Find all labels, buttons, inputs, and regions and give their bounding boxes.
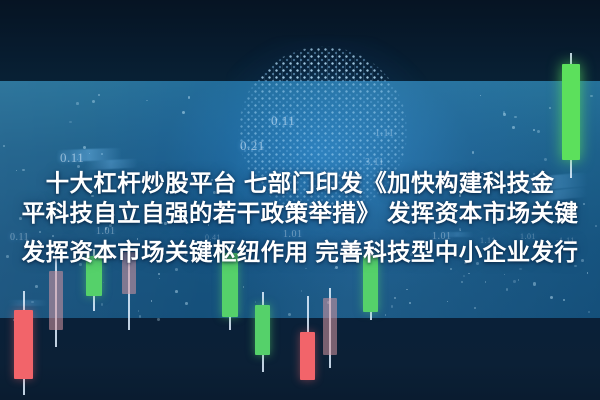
candlestick-body <box>14 310 33 379</box>
headline-line-2: 平科技自立自强的若干政策举措》 发挥资本市场关键 <box>0 198 600 228</box>
candlestick-body <box>49 271 63 330</box>
particle-dot <box>409 302 411 304</box>
particle-dot <box>533 282 536 285</box>
candlestick-body <box>300 332 315 380</box>
particle-dot <box>450 268 452 270</box>
particle-dot <box>35 285 38 288</box>
news-banner-image: 0.110.110.211.113.111.010.111.011.011.11… <box>0 0 600 400</box>
particle-dot <box>185 302 188 305</box>
particle-dot <box>512 126 515 129</box>
floating-ticker-number: 0.11 <box>60 150 84 166</box>
particle-dot <box>513 280 516 283</box>
candlestick <box>49 258 63 347</box>
particle-dot <box>391 305 393 307</box>
headline-line-3: 发挥资本市场关键枢纽作用 完善科技型中小企业发行 <box>0 237 600 267</box>
candlestick <box>323 288 337 368</box>
floating-ticker-number: 0.11 <box>271 113 295 129</box>
candlestick <box>14 291 33 395</box>
particle-dot <box>447 301 448 302</box>
particle-dot <box>69 121 71 123</box>
floating-ticker-number: 1.11 <box>375 128 394 139</box>
particle-dot <box>138 310 139 311</box>
particle-dot <box>533 129 535 131</box>
candlestick-body <box>255 305 270 355</box>
particle-dot <box>474 307 476 309</box>
candlestick-body <box>323 298 337 355</box>
particle-dot <box>288 313 291 316</box>
particle-dot <box>182 111 185 114</box>
particle-dot <box>472 151 474 153</box>
particle-dot <box>587 272 588 273</box>
particle-dot <box>461 281 462 282</box>
particle-dot <box>506 288 508 290</box>
particle-dot <box>175 290 178 293</box>
candlestick <box>255 292 270 372</box>
particle-dot <box>3 145 5 147</box>
particle-dot <box>139 315 142 318</box>
particle-dot <box>76 102 79 105</box>
particle-dot <box>146 100 147 101</box>
particle-dot <box>157 318 159 320</box>
particle-dot <box>406 289 407 290</box>
particle-dot <box>151 300 152 301</box>
candlestick <box>562 53 580 178</box>
candlestick <box>300 296 315 380</box>
particle-dot <box>301 290 302 291</box>
particle-dot <box>519 268 522 271</box>
candlestick-body <box>562 64 580 160</box>
particle-dot <box>537 130 540 133</box>
floating-ticker-number: 3.11 <box>365 157 384 168</box>
headline-line-1: 十大杠杆炒股平台 七部门印发《加快构建科技金 <box>0 168 600 198</box>
floating-ticker-number: 0.21 <box>240 138 265 154</box>
